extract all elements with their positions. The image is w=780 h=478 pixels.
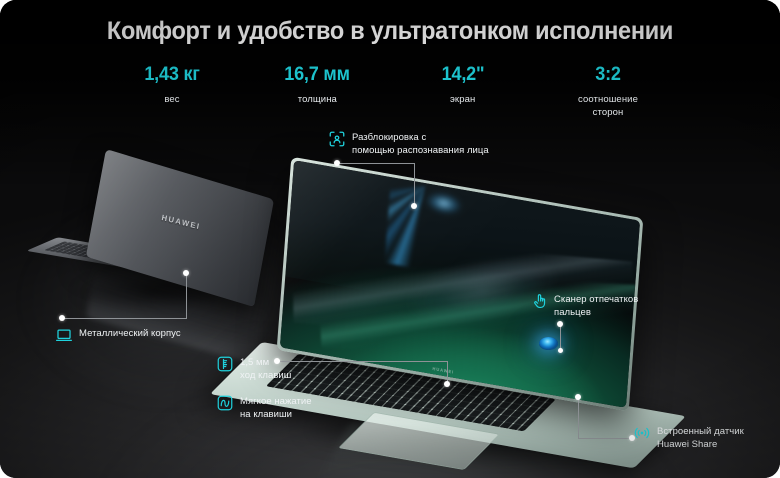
leader-dot-huawei-share-start	[575, 394, 581, 400]
brand-logo-rear: HUAWEI	[161, 214, 201, 232]
spec-value: 16,7 мм	[260, 64, 374, 86]
leader-dot-face-unlock-start	[334, 160, 340, 166]
callout-metal-body[interactable]: Металлический корпус	[55, 326, 245, 344]
spec-value: 1,43 кг	[115, 64, 229, 86]
laptop-icon	[55, 326, 73, 344]
wave-icon	[216, 394, 234, 412]
callout-label: Сканер отпечатков пальцев	[554, 292, 638, 319]
leader-line-face-unlock-v	[414, 163, 415, 206]
spec-item-aspect-ratio: 3:2 соотношение сторон	[548, 64, 668, 119]
callout-label: Встроенный датчик Huawei Share	[657, 424, 744, 451]
callout-label: Металлический корпус	[79, 326, 181, 340]
callout-soft-press[interactable]: Мягкое нажатие на клавиши	[216, 394, 346, 421]
leader-line-huawei-share-h	[578, 438, 632, 439]
spec-item-screen: 14,2" экран	[403, 64, 523, 119]
leader-line-metal-body-h	[62, 318, 187, 319]
callout-fingerprint-scanner[interactable]: Сканер отпечатков пальцев	[530, 292, 680, 319]
ruler-icon	[216, 355, 234, 373]
promo-banner: Комфорт и удобство в ультратонком исполн…	[0, 0, 780, 478]
fingerprint-touch-icon	[530, 292, 548, 310]
leader-dot-metal-body-start	[183, 270, 189, 276]
callout-key-travel[interactable]: 1,5 мм ход клавиш	[216, 355, 346, 382]
spec-label: соотношение сторон	[548, 94, 668, 120]
callout-huawei-share[interactable]: Встроенный датчик Huawei Share	[633, 424, 779, 451]
leader-dot-metal-body-end	[59, 315, 65, 321]
leader-dot-fingerprint-start	[557, 321, 563, 327]
spec-value: 3:2	[551, 64, 665, 86]
leader-line-metal-body-v	[186, 274, 187, 318]
rear-laptop-image: HUAWEI	[36, 172, 286, 307]
spec-list: 1,43 кг вес 16,7 мм толщина 14,2" экран …	[112, 64, 668, 119]
spec-item-weight: 1,43 кг вес	[112, 64, 232, 119]
callout-label: Разблокировка с помощью распознавания ли…	[352, 130, 489, 157]
spec-label: вес	[112, 94, 232, 107]
page-title: Комфорт и удобство в ультратонком исполн…	[23, 18, 756, 46]
nfc-icon	[633, 424, 651, 442]
leader-dot-fingerprint-end	[558, 348, 563, 353]
spec-label: экран	[403, 94, 523, 107]
face-recognition-icon	[328, 130, 346, 148]
spec-value: 14,2"	[406, 64, 520, 86]
power-fingerprint-button-highlight	[539, 337, 558, 350]
spec-label: толщина	[257, 94, 377, 107]
leader-dot-key-travel-end	[444, 381, 450, 387]
leader-line-huawei-share-v	[578, 398, 579, 438]
callout-face-unlock[interactable]: Разблокировка с помощью распознавания ли…	[328, 130, 528, 157]
callout-label: Мягкое нажатие на клавиши	[240, 394, 312, 421]
leader-line-face-unlock-h	[340, 163, 415, 164]
leader-dot-face-unlock-end	[411, 203, 417, 209]
spec-item-thickness: 16,7 мм толщина	[257, 64, 377, 119]
callout-label: 1,5 мм ход клавиш	[240, 355, 291, 382]
